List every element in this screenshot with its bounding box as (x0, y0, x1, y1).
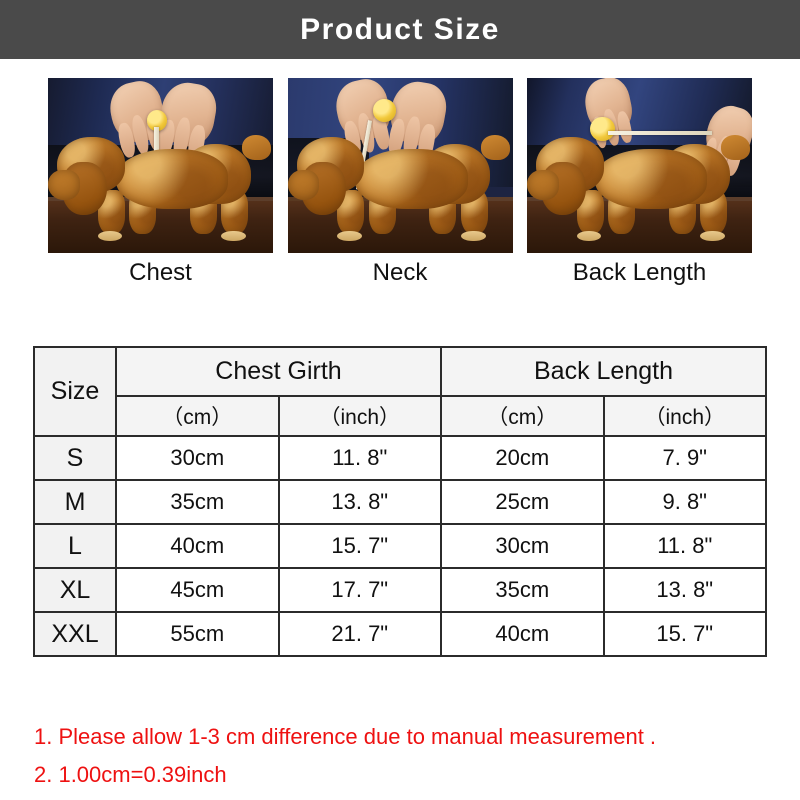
cell-back-inch: 9. 8" (604, 480, 767, 524)
header-chest-inch: （inch） (279, 396, 442, 436)
photo-chest (48, 78, 273, 253)
header-back-cm: （cm） (441, 396, 604, 436)
cell-back-inch: 7. 9" (604, 436, 767, 480)
table-header-row-groups: Size Chest Girth Back Length (34, 347, 766, 396)
cell-back-cm: 40cm (441, 612, 604, 656)
header-chest-cm: （cm） (116, 396, 279, 436)
photo-neck (288, 78, 513, 253)
cell-back-cm: 35cm (441, 568, 604, 612)
cell-chest-cm: 30cm (116, 436, 279, 480)
header-chest-girth: Chest Girth (116, 347, 441, 396)
cell-size: XXL (34, 612, 116, 656)
table-row: XL 45cm 17. 7" 35cm 13. 8" (34, 568, 766, 612)
header-back-length: Back Length (441, 347, 766, 396)
cell-size: M (34, 480, 116, 524)
cell-chest-cm: 45cm (116, 568, 279, 612)
cell-chest-cm: 35cm (116, 480, 279, 524)
cell-back-inch: 15. 7" (604, 612, 767, 656)
note-line-1: 1. Please allow 1-3 cm difference due to… (34, 718, 774, 756)
page-title: Product Size (300, 15, 500, 45)
table-header-row-units: （cm） （inch） （cm） （inch） (34, 396, 766, 436)
header-size: Size (34, 347, 116, 436)
photo-caption-row: Chest Neck Back Length (48, 258, 752, 288)
cell-chest-inch: 21. 7" (279, 612, 442, 656)
cell-chest-inch: 15. 7" (279, 524, 442, 568)
header-back-inch: （inch） (604, 396, 767, 436)
page-banner: Product Size (0, 0, 800, 59)
cell-chest-cm: 40cm (116, 524, 279, 568)
plush-dog (48, 124, 273, 240)
measurement-photo-strip (48, 78, 752, 253)
table-body: S 30cm 11. 8" 20cm 7. 9" M 35cm 13. 8" 2… (34, 436, 766, 656)
note-line-2: 2. 1.00cm=0.39inch (34, 756, 774, 794)
cell-size: S (34, 436, 116, 480)
tape-measure-reel-icon (373, 99, 396, 122)
table-row: L 40cm 15. 7" 30cm 11. 8" (34, 524, 766, 568)
size-chart-table: Size Chest Girth Back Length （cm） （inch）… (33, 346, 767, 657)
cell-back-cm: 20cm (441, 436, 604, 480)
cell-back-cm: 25cm (441, 480, 604, 524)
table-row: XXL 55cm 21. 7" 40cm 15. 7" (34, 612, 766, 656)
caption-chest: Chest (48, 258, 273, 288)
cell-back-cm: 30cm (441, 524, 604, 568)
caption-neck: Neck (288, 258, 513, 288)
plush-dog (527, 124, 752, 240)
cell-size: L (34, 524, 116, 568)
cell-back-inch: 13. 8" (604, 568, 767, 612)
cell-chest-inch: 11. 8" (279, 436, 442, 480)
cell-chest-cm: 55cm (116, 612, 279, 656)
measurement-notes: 1. Please allow 1-3 cm difference due to… (34, 718, 774, 794)
table-header: Size Chest Girth Back Length （cm） （inch）… (34, 347, 766, 436)
cell-back-inch: 11. 8" (604, 524, 767, 568)
photo-back-length (527, 78, 752, 253)
plush-dog (288, 124, 513, 240)
cell-chest-inch: 13. 8" (279, 480, 442, 524)
caption-back-length: Back Length (527, 258, 752, 288)
table-row: S 30cm 11. 8" 20cm 7. 9" (34, 436, 766, 480)
table-row: M 35cm 13. 8" 25cm 9. 8" (34, 480, 766, 524)
cell-chest-inch: 17. 7" (279, 568, 442, 612)
cell-size: XL (34, 568, 116, 612)
